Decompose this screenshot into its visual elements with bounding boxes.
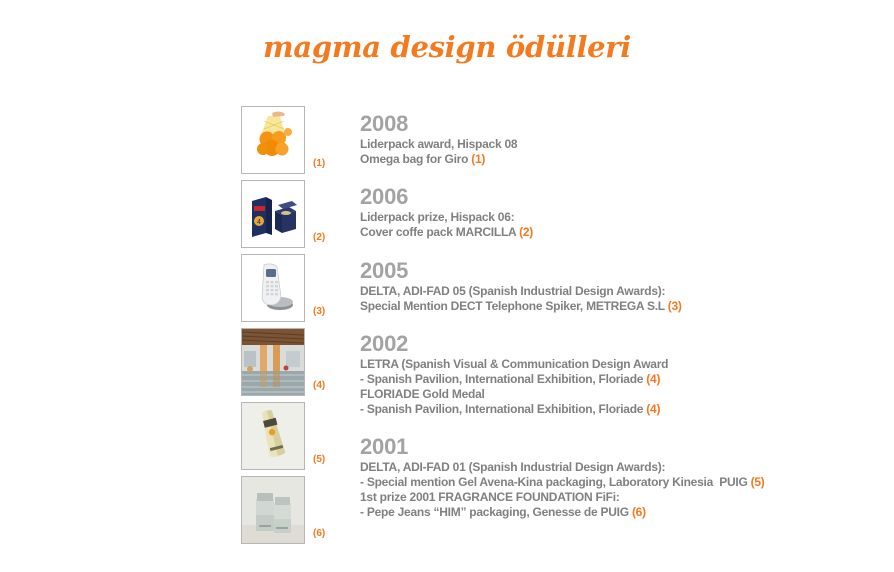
award-line: - Spanish Pavilion, International Exhibi… — [360, 402, 880, 417]
award-block-2006: 2006 Liderpack prize, Hispack 06: Cover … — [360, 185, 880, 240]
perfume-bottles-photo — [242, 477, 304, 543]
thumbnail-number: (4) — [313, 380, 325, 391]
award-year: 2001 — [360, 435, 880, 459]
award-reference: (1) — [471, 152, 485, 166]
award-line: Cover coffe pack MARCILLA (2) — [360, 225, 880, 240]
award-line: Omega bag for Giro (1) — [360, 152, 880, 167]
award-line: - Special mention Gel Avena-Kina packagi… — [360, 475, 880, 490]
award-line: - Spanish Pavilion, International Exhibi… — [360, 372, 880, 387]
award-line-text: Cover coffe pack MARCILLA — [360, 225, 519, 239]
award-block-2002: 2002 LETRA (Spanish Visual & Communicati… — [360, 332, 880, 417]
award-line-text: - Spanish Pavilion, International Exhibi… — [360, 402, 646, 416]
award-block-2008: 2008 Liderpack award, Hispack 08 Omega b… — [360, 112, 880, 167]
award-line: 1st prize 2001 FRAGRANCE FOUNDATION FiFi… — [360, 490, 880, 505]
award-line: Liderpack prize, Hispack 06: — [360, 210, 880, 225]
thumbnail-perfume-bottles[interactable] — [241, 476, 305, 544]
award-line: - Pepe Jeans “HIM” packaging, Genesse de… — [360, 505, 880, 520]
award-year: 2005 — [360, 259, 880, 283]
list-item: (1) — [241, 106, 337, 180]
thumbnail-gel-bottle[interactable] — [241, 402, 305, 470]
thumbnail-column: (1) 4 (2) — [241, 106, 337, 550]
award-line: Liderpack award, Hispack 08 — [360, 137, 880, 152]
dect-telephone-photo — [242, 255, 304, 321]
award-line-text: Special Mention DECT Telephone Spiker, M… — [360, 299, 668, 313]
thumbnail-number: (3) — [313, 306, 325, 317]
award-reference: (3) — [668, 299, 682, 313]
page-title: magma design ödülleri — [0, 30, 894, 64]
award-line-text: - Special mention Gel Avena-Kina packagi… — [360, 475, 751, 489]
oranges-mesh-bag-photo — [242, 107, 304, 173]
thumbnail-coffee-pack[interactable]: 4 — [241, 180, 305, 248]
award-line: DELTA, ADI-FAD 05 (Spanish Industrial De… — [360, 284, 880, 299]
award-block-2001: 2001 DELTA, ADI-FAD 01 (Spanish Industri… — [360, 435, 880, 520]
thumbnail-number: (1) — [313, 158, 325, 169]
award-line: FLORIADE Gold Medal — [360, 387, 880, 402]
award-line: Special Mention DECT Telephone Spiker, M… — [360, 299, 880, 314]
award-reference: (4) — [646, 402, 660, 416]
award-line-text: Liderpack prize, Hispack 06: — [360, 210, 514, 224]
list-item: (6) — [241, 476, 337, 550]
award-year: 2008 — [360, 112, 880, 136]
pavilion-interior-photo — [242, 329, 304, 395]
thumbnail-dect-telephone[interactable] — [241, 254, 305, 322]
thumbnail-pavilion-interior[interactable] — [241, 328, 305, 396]
award-line: DELTA, ADI-FAD 01 (Spanish Industrial De… — [360, 460, 880, 475]
award-reference: (5) — [751, 475, 765, 489]
award-line-text: Liderpack award, Hispack 08 — [360, 137, 517, 151]
gel-bottle-photo — [242, 403, 304, 469]
list-item: 4 (2) — [241, 180, 337, 254]
thumbnail-number: (2) — [313, 232, 325, 243]
award-block-2005: 2005 DELTA, ADI-FAD 05 (Spanish Industri… — [360, 259, 880, 314]
award-reference: (6) — [632, 505, 646, 519]
award-line-text: LETRA (Spanish Visual & Communication De… — [360, 357, 668, 371]
award-year: 2002 — [360, 332, 880, 356]
award-line-text: DELTA, ADI-FAD 05 (Spanish Industrial De… — [360, 284, 665, 298]
list-item: (3) — [241, 254, 337, 328]
coffee-pack-photo: 4 — [242, 181, 304, 247]
list-item: (5) — [241, 402, 337, 476]
award-line: LETRA (Spanish Visual & Communication De… — [360, 357, 880, 372]
award-line-text: - Pepe Jeans “HIM” packaging, Genesse de… — [360, 505, 632, 519]
award-line-text: FLORIADE Gold Medal — [360, 387, 485, 401]
award-reference: (4) — [646, 372, 660, 386]
award-line-text: - Spanish Pavilion, International Exhibi… — [360, 372, 646, 386]
svg-text:4: 4 — [257, 219, 261, 226]
thumbnail-number: (5) — [313, 454, 325, 465]
award-line-text: DELTA, ADI-FAD 01 (Spanish Industrial De… — [360, 460, 665, 474]
list-item: (4) — [241, 328, 337, 402]
award-line-text: 1st prize 2001 FRAGRANCE FOUNDATION FiFi… — [360, 490, 620, 504]
award-line-text: Omega bag for Giro — [360, 152, 471, 166]
award-text-column: 2008 Liderpack award, Hispack 08 Omega b… — [360, 112, 880, 520]
thumbnail-oranges-mesh-bag[interactable] — [241, 106, 305, 174]
award-year: 2006 — [360, 185, 880, 209]
thumbnail-number: (6) — [313, 528, 325, 539]
award-reference: (2) — [519, 225, 533, 239]
